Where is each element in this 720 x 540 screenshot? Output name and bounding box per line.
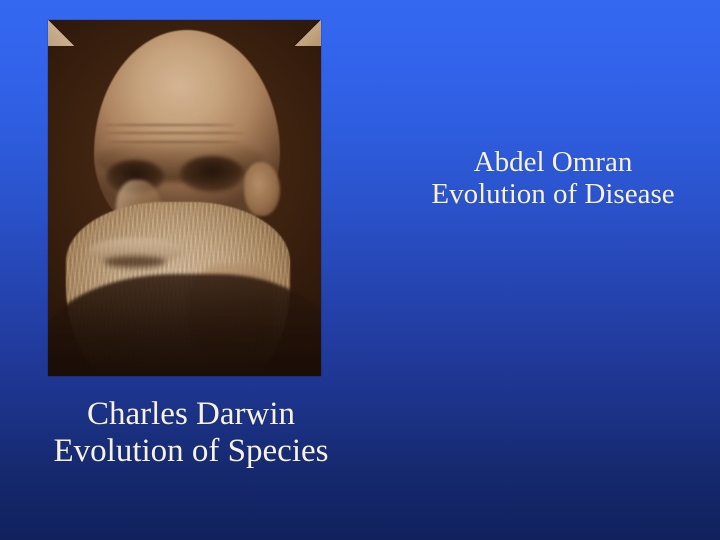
portrait-forehead-wrinkle xyxy=(106,132,244,134)
portrait-bevel-top-left xyxy=(48,20,74,46)
darwin-work-label: Evolution of Species xyxy=(0,433,382,470)
charles-darwin-portrait-image xyxy=(48,20,321,376)
portrait-eye-right xyxy=(180,156,244,192)
portrait-ear xyxy=(244,162,280,216)
omran-work-label: Evolution of Disease xyxy=(360,178,720,210)
darwin-caption: Charles Darwin Evolution of Species xyxy=(0,396,382,470)
presentation-slide: Abdel Omran Evolution of Disease Charles… xyxy=(0,0,720,540)
omran-name-label: Abdel Omran xyxy=(360,146,720,178)
darwin-name-label: Charles Darwin xyxy=(0,396,382,433)
portrait-mouth xyxy=(104,256,166,268)
portrait-forehead-wrinkle xyxy=(104,124,234,126)
portrait-bevel-top-right xyxy=(295,20,321,46)
omran-caption: Abdel Omran Evolution of Disease xyxy=(360,146,720,211)
